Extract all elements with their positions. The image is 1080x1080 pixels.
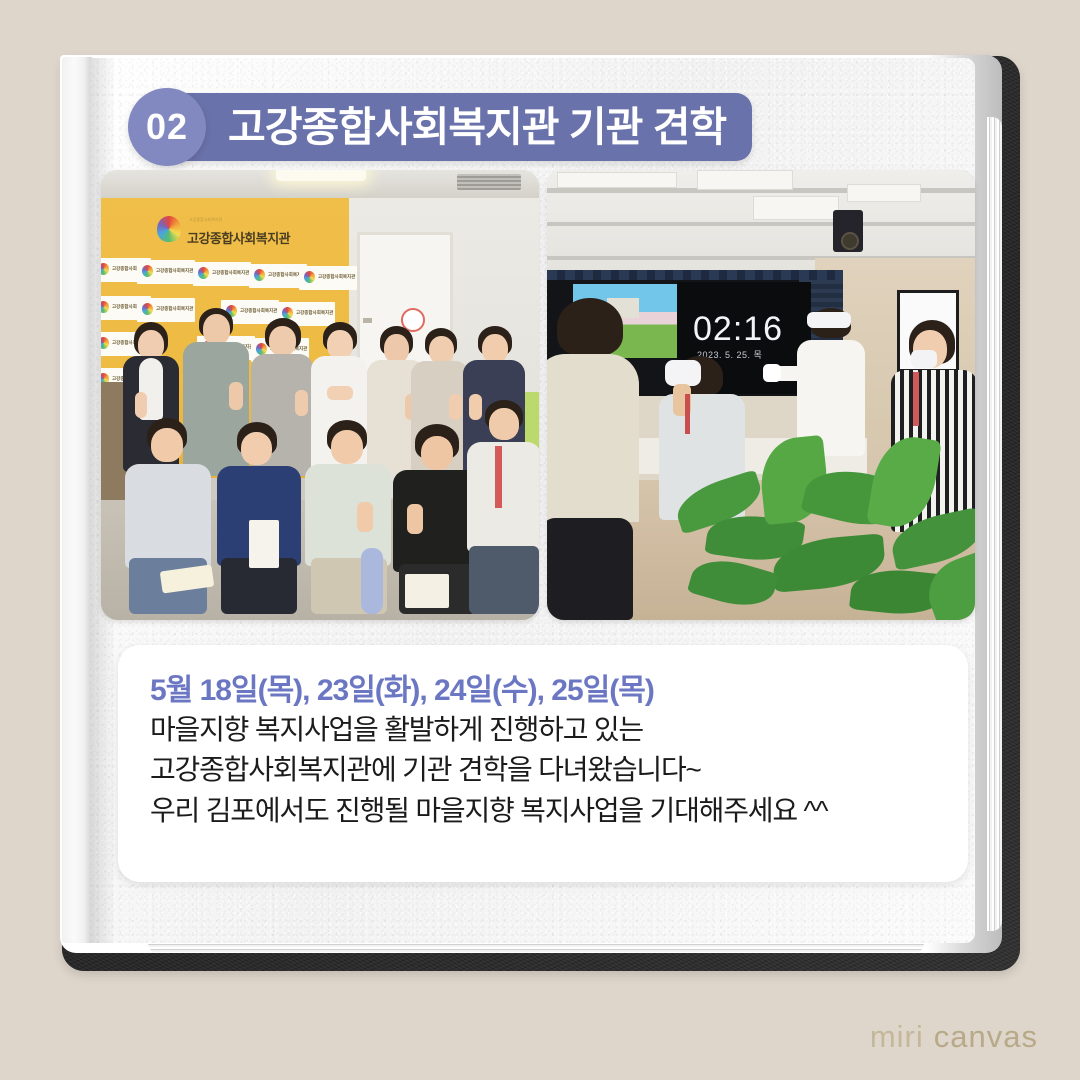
facing-page <box>62 57 92 943</box>
description-card: 5월 18일(목), 23일(화), 24일(수), 25일(목) 마을지향 복… <box>118 645 968 882</box>
book-illustration: 고강종합사회복지관 기관 견학 02 고강종합사회복지관 고강종합사회복지관 고… <box>0 0 1080 1080</box>
backdrop-tile: 고강종합사회복지관 <box>299 266 357 290</box>
vr-headset-icon <box>665 360 701 386</box>
event-dates: 5월 18일(목), 23일(화), 24일(수), 25일(목) <box>150 672 936 710</box>
section-number: 02 <box>146 109 188 145</box>
person <box>217 422 301 614</box>
person <box>305 420 391 614</box>
speaker-icon <box>833 210 863 252</box>
ceiling-vent-icon <box>457 174 521 190</box>
section-title-banner: 고강종합사회복지관 기관 견학 <box>150 93 752 161</box>
miricanvas-logo: miri canvas <box>870 1021 1038 1052</box>
logo-second-word: canvas <box>934 1021 1038 1052</box>
description-line-3: 우리 김포에서도 진행될 마을지향 복지사업을 기대해주세요 ^^ <box>150 791 936 832</box>
ceiling-light-icon <box>276 170 366 181</box>
face-mask-icon <box>911 350 937 368</box>
vr-headset-icon <box>807 312 851 328</box>
screen-time: 02:16 <box>693 310 783 349</box>
vr-controller-icon <box>763 364 781 382</box>
backdrop-tile: 고강종합사회복지관 <box>137 260 195 284</box>
page-title: 고강종합사회복지관 기관 견학 <box>228 107 726 148</box>
backdrop-tile: 고강종합사회복지관 <box>193 262 251 286</box>
photo-row: 고강종합사회복지관 고강종합사회복지관 고강종합사회복지관 고강종합사회복지관 … <box>101 170 975 620</box>
description-line-1: 마을지향 복지사업을 활발하게 진행하고 있는 <box>150 710 936 751</box>
welfare-center-logo-icon <box>157 216 181 242</box>
section-number-badge: 02 <box>128 88 206 166</box>
backdrop-subtitle: 고강종합사회복지관 <box>189 217 222 223</box>
backdrop-title: 고강종합사회복지관 <box>187 228 290 247</box>
person <box>467 400 539 614</box>
page-edge-right <box>987 117 1002 931</box>
foreground-plant <box>665 420 975 620</box>
logo-first-word: miri <box>870 1021 924 1052</box>
group-photo: 고강종합사회복지관 고강종합사회복지관 고강종합사회복지관 고강종합사회복지관 … <box>101 170 539 620</box>
vr-room-photo: 02:16 2023. 5. 25. 목 <box>547 170 975 620</box>
person-foreground <box>547 298 639 620</box>
person <box>125 418 211 614</box>
description-line-2: 고강종합사회복지관에 기관 견학을 다녀왔습니다~ <box>150 750 936 791</box>
